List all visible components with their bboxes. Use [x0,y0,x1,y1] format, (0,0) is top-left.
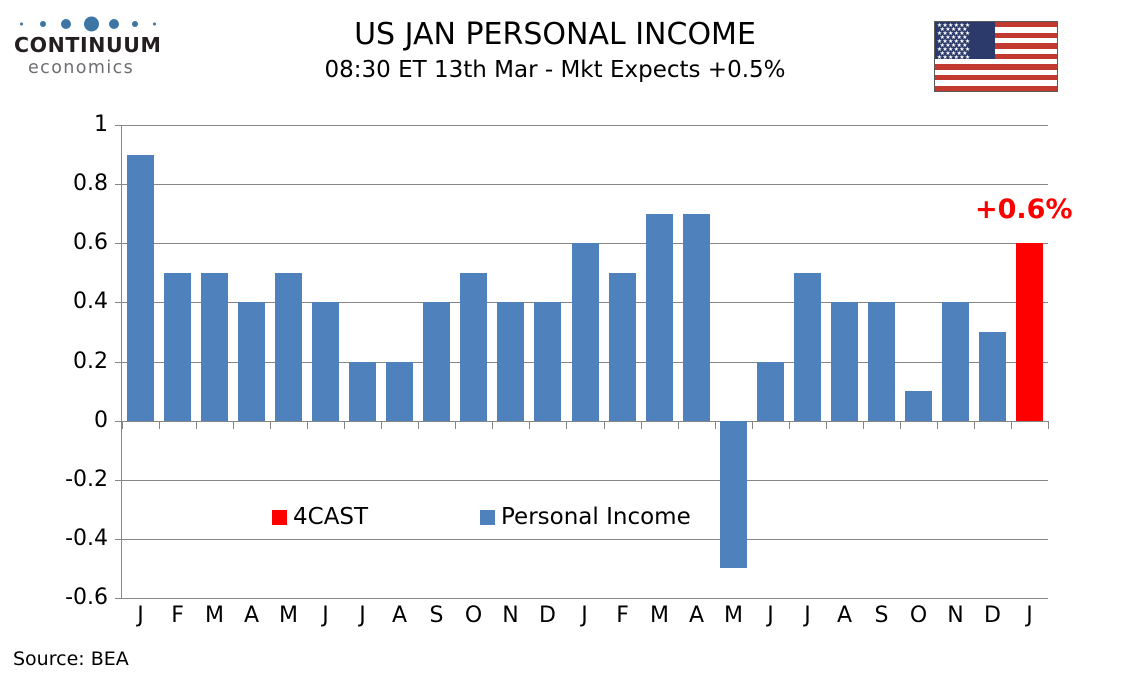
bar-O-9 [460,273,487,421]
chart-page: CONTINUUM economics US JAN PERSONAL INCO… [0,0,1134,680]
y-tick-label: 0 [0,410,108,432]
bar-J-24 [1016,243,1043,420]
y-tick-label: 0.6 [0,232,108,254]
y-tick-label: 1 [0,114,108,136]
x-tick-mark [1011,421,1012,429]
x-tick-mark [270,421,271,429]
legend-item-1[interactable]: Personal Income [480,504,691,530]
y-tick-mark [115,302,122,303]
x-tick-mark [937,421,938,429]
x-axis-label-18: J [789,604,826,628]
y-tick-mark [115,480,122,481]
bar-A-19 [831,302,858,420]
x-axis-label-24: J [1011,604,1048,628]
bar-O-21 [905,391,932,421]
x-tick-mark [604,421,605,429]
x-tick-mark [418,421,419,429]
y-tick-mark [115,598,122,599]
logo-dot-1 [20,23,23,26]
bar-D-23 [979,332,1006,421]
x-tick-mark [122,421,123,429]
logo-dots-icon [16,14,148,34]
x-axis-label-19: A [826,604,863,628]
logo-dot-7 [153,23,156,26]
legend-swatch-personal-income [480,510,495,525]
x-axis-label-11: D [529,604,566,628]
bar-M-4 [275,273,302,421]
gridline [122,539,1048,540]
logo-dot-3 [61,19,71,29]
x-tick-mark [344,421,345,429]
title-block: US JAN PERSONAL INCOME 08:30 ET 13th Mar… [190,16,920,86]
y-tick-mark [115,421,122,422]
x-axis-label-4: M [270,604,307,628]
gridline [122,598,1048,599]
legend-swatch-4cast [272,510,287,525]
x-axis-label-16: M [715,604,752,628]
x-tick-mark [641,421,642,429]
x-tick-mark [233,421,234,429]
bar-D-11 [534,302,561,420]
flag-star: ★ [954,55,959,61]
x-tick-mark [826,421,827,429]
bar-N-22 [942,302,969,420]
bar-S-20 [868,302,895,420]
logo-dot-5 [109,19,119,29]
bar-A-15 [683,214,710,421]
us-flag-icon: ★★★★★★★★★★★★★★★★★★★★★★★★★★★★★★★★★★★★★★★★… [934,21,1058,92]
logo-dot-2 [40,21,46,27]
legend-label-0: 4CAST [293,504,368,530]
continuum-economics-logo: CONTINUUM economics [12,12,152,84]
x-axis-label-15: A [678,604,715,628]
x-axis-label-12: J [566,604,603,628]
x-tick-mark [863,421,864,429]
x-tick-mark [529,421,530,429]
logo-dot-4 [84,17,99,32]
source-note: Source: BEA [13,648,129,670]
x-tick-mark [1048,421,1049,429]
y-tick-label: -0.4 [0,528,108,550]
flag-star: ★ [959,55,964,61]
gridline [122,480,1048,481]
flag-canton: ★★★★★★★★★★★★★★★★★★★★★★★★★★★★★★★★★★★★★★★★… [935,22,995,59]
x-axis-label-20: S [863,604,900,628]
x-axis-label-8: S [418,604,455,628]
bar-J-18 [794,273,821,421]
x-tick-mark [974,421,975,429]
flag-star: ★ [942,55,947,61]
x-axis-label-17: J [752,604,789,628]
bar-S-8 [423,302,450,420]
x-axis-label-3: A [233,604,270,628]
x-tick-mark [196,421,197,429]
chart-title: US JAN PERSONAL INCOME [190,16,920,54]
x-axis-label-5: J [307,604,344,628]
x-tick-mark [900,421,901,429]
x-axis-label-10: N [492,604,529,628]
legend-label-1: Personal Income [501,504,691,530]
bar-A-3 [238,302,265,420]
x-tick-mark [566,421,567,429]
bar-J-17 [757,362,784,421]
x-axis-label-6: J [344,604,381,628]
x-tick-mark [715,421,716,429]
y-tick-label: 0.4 [0,291,108,313]
x-tick-mark [752,421,753,429]
bar-N-10 [497,302,524,420]
bar-A-7 [386,362,413,421]
bar-J-6 [349,362,376,421]
x-axis-label-0: J [122,604,159,628]
logo-wordmark: CONTINUUM [14,33,162,57]
x-axis-label-23: D [974,604,1011,628]
x-axis-label-22: N [937,604,974,628]
x-tick-mark [789,421,790,429]
bar-M-16 [720,421,747,569]
x-axis-label-13: F [604,604,641,628]
y-tick-mark [115,539,122,540]
x-tick-mark [678,421,679,429]
y-tick-label: 0.8 [0,173,108,195]
bar-M-14 [646,214,673,421]
y-tick-label: -0.2 [0,469,108,491]
forecast-annotation: +0.6% [975,194,1073,225]
bar-J-0 [127,155,154,421]
x-tick-mark [307,421,308,429]
flag-stripe [935,86,1057,91]
legend-item-0[interactable]: 4CAST [272,504,368,530]
y-tick-label: -0.6 [0,587,108,609]
gridline [122,125,1048,126]
x-tick-mark [381,421,382,429]
chart-subtitle: 08:30 ET 13th Mar - Mkt Expects +0.5% [190,54,920,86]
bar-J-5 [312,302,339,420]
flag-star: ★ [948,55,953,61]
zero-axis-line [122,421,1048,422]
bar-F-13 [609,273,636,421]
flag-star: ★ [937,55,942,61]
gridline [122,184,1048,185]
x-axis-label-2: M [196,604,233,628]
y-tick-mark [115,243,122,244]
x-axis-label-21: O [900,604,937,628]
y-tick-label: 0.2 [0,351,108,373]
x-tick-mark [159,421,160,429]
x-tick-mark [492,421,493,429]
x-tick-mark [455,421,456,429]
bar-J-12 [572,243,599,420]
x-axis-label-9: O [455,604,492,628]
flag-star: ★ [965,55,970,61]
x-axis-label-7: A [381,604,418,628]
logo-dot-6 [132,21,138,27]
x-axis-label-1: F [159,604,196,628]
logo-subtitle: economics [28,58,134,78]
x-axis-label-14: M [641,604,678,628]
bar-M-2 [201,273,228,421]
bar-F-1 [164,273,191,421]
y-tick-mark [115,184,122,185]
y-tick-mark [115,125,122,126]
y-tick-mark [115,362,122,363]
